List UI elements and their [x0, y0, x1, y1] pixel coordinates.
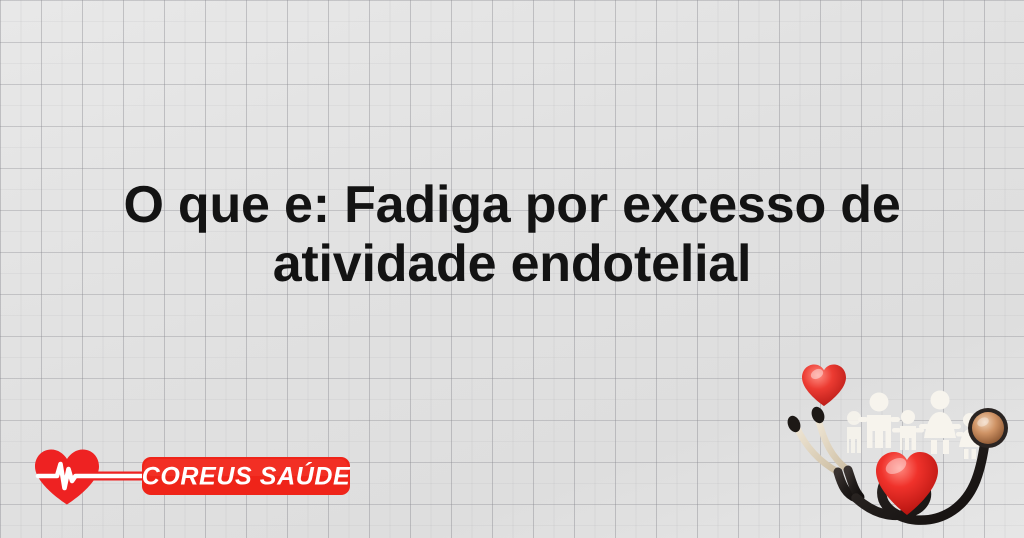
headline-line-1: O que e: Fadiga por excesso de: [62, 176, 962, 235]
health-illustration: [780, 340, 1024, 536]
slide-canvas: O que e: Fadiga por excesso de atividade…: [0, 0, 1024, 538]
chestpiece-icon: [968, 408, 1008, 448]
stethoscope-binaural: [785, 405, 848, 472]
brand-logo[interactable]: COREUS SAÚDE: [30, 445, 352, 507]
family-silhouette-icon: [847, 391, 981, 460]
small-heart-icon: [802, 365, 846, 407]
ear-tip-right-icon: [809, 405, 826, 425]
page-title: O que e: Fadiga por excesso de atividade…: [62, 176, 962, 294]
brand-name: COREUS SAÚDE: [142, 462, 351, 491]
headline-line-2: atividade endotelial: [62, 235, 962, 294]
